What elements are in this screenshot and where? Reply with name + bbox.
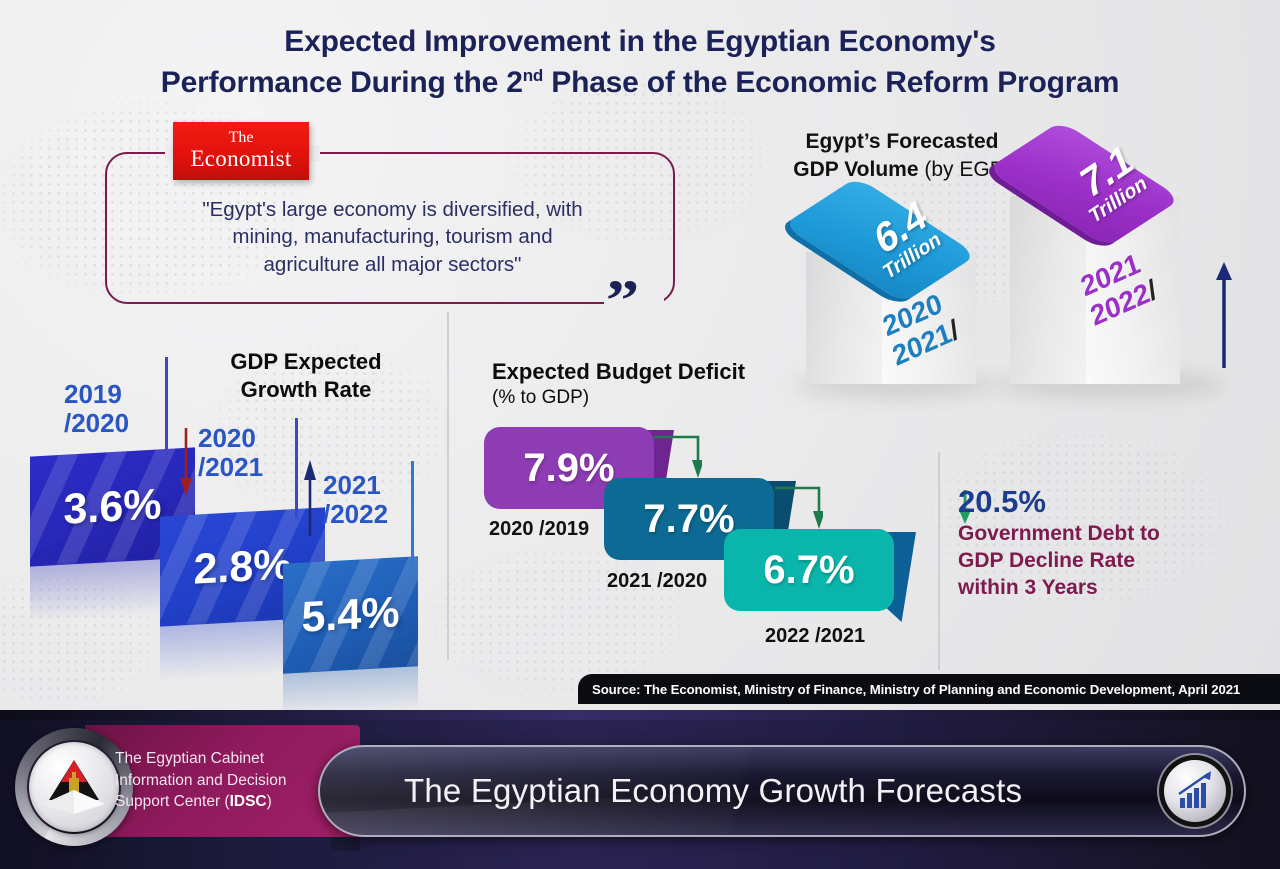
deficit-value-3: 6.7%	[763, 548, 854, 593]
deficit-section-title: Expected Budget Deficit (% to GDP)	[492, 358, 745, 409]
growth-tick-1	[165, 357, 168, 455]
closing-quote-icon: ”	[606, 272, 639, 330]
title-line-2: Performance During the 2nd Phase of the …	[0, 63, 1280, 104]
debt-description: Government Debt to GDP Decline Rate with…	[958, 521, 1258, 602]
growth-year-2020-2021: 2020 /2021	[198, 424, 263, 482]
quote-text-line-3: agriculture all major sectors"	[120, 251, 665, 278]
debt-description-line-1: Government Debt to	[958, 521, 1258, 548]
growth-tick-3	[411, 461, 414, 569]
quote-text-line-1: "Egypt's large economy is diversified, w…	[120, 196, 665, 223]
deficit-value-2: 7.7%	[643, 497, 734, 542]
deficit-bar-2022-2021: 6.7%	[724, 529, 894, 611]
growth-title-line-2: Growth Rate	[196, 376, 416, 404]
debt-percent: 20.5%	[958, 486, 1258, 517]
deficit-label-2: 2021 /2020	[607, 570, 707, 593]
growth-value-1: 3.6%	[63, 480, 161, 534]
source-text: Source: The Economist, Ministry of Finan…	[578, 682, 1240, 697]
debt-description-line-2: GDP Decline Rate	[958, 548, 1258, 575]
growth-year-2019-2020: 2019 /2020	[64, 380, 129, 438]
source-bar: Source: The Economist, Ministry of Finan…	[578, 674, 1280, 704]
growth-up-arrow-icon	[302, 460, 318, 536]
infographic-canvas: Expected Improvement in the Egyptian Eco…	[0, 0, 1280, 869]
growth-year-bottom-1: /2020	[64, 409, 129, 438]
gdp-volume-heading-bold: GDP Volume	[793, 158, 924, 181]
footer-banner-title: The Egyptian Economy Growth Forecasts	[404, 772, 1164, 810]
footer-top-edge	[0, 710, 1280, 720]
idsc-org-line-3-c: )	[267, 793, 272, 810]
idsc-org-line-3-a: Support Center (	[115, 793, 230, 810]
idsc-emblem-icon	[29, 742, 119, 832]
debt-description-line-3: within 3 Years	[958, 575, 1258, 602]
growth-year-2021-2022: 2021 /2022	[323, 471, 388, 529]
growth-year-top-2: 2020	[198, 424, 263, 453]
growth-value-2: 2.8%	[193, 540, 291, 594]
economist-logo-line-1: The	[173, 122, 309, 146]
economist-logo: The Economist	[173, 122, 309, 180]
debt-block: 20.5% Government Debt to GDP Decline Rat…	[958, 486, 1258, 602]
quote-text-line-2: mining, manufacturing, tourism and	[120, 223, 665, 250]
title-line-2-part-a: Performance During the 2	[161, 66, 523, 99]
growth-year-top-3: 2021	[323, 471, 388, 500]
growth-value-3: 5.4%	[301, 588, 399, 642]
gdp-growth-up-arrow-icon	[1212, 262, 1236, 368]
title-ordinal-suffix: nd	[523, 66, 543, 85]
growth-chart-icon	[1164, 760, 1226, 822]
deficit-arrow-icon-1	[654, 434, 702, 482]
growth-year-bottom-2: /2021	[198, 453, 263, 482]
quote-text: "Egypt's large economy is diversified, w…	[120, 196, 665, 278]
title-line-1: Expected Improvement in the Egyptian Eco…	[0, 22, 1280, 63]
growth-section-title: GDP Expected Growth Rate	[196, 348, 416, 403]
growth-year-top-1: 2019	[64, 380, 129, 409]
deficit-title-line: Expected Budget Deficit	[492, 358, 745, 386]
growth-bar-2021-2022: 5.4%	[283, 556, 418, 674]
page-title: Expected Improvement in the Egyptian Eco…	[0, 22, 1280, 104]
idsc-logo-plate-notch	[330, 837, 360, 851]
divider-right	[938, 452, 940, 670]
growth-down-arrow-icon	[178, 428, 194, 496]
economist-logo-line-2: Economist	[173, 146, 309, 172]
deficit-label-1: 2020 /2019	[489, 518, 589, 541]
deficit-label-3: 2022 /2021	[765, 625, 865, 648]
deficit-value-1: 7.9%	[523, 446, 614, 491]
growth-title-line-1: GDP Expected	[196, 348, 416, 376]
growth-year-bottom-3: /2022	[323, 500, 388, 529]
deficit-subtitle: (% to GDP)	[492, 386, 745, 410]
title-line-2-part-b: Phase of the Economic Reform Program	[543, 66, 1119, 99]
growth-tick-2	[295, 418, 298, 518]
idsc-acronym: IDSC	[230, 793, 267, 810]
divider-left	[447, 312, 449, 660]
deficit-arrow-icon-2	[775, 485, 823, 533]
